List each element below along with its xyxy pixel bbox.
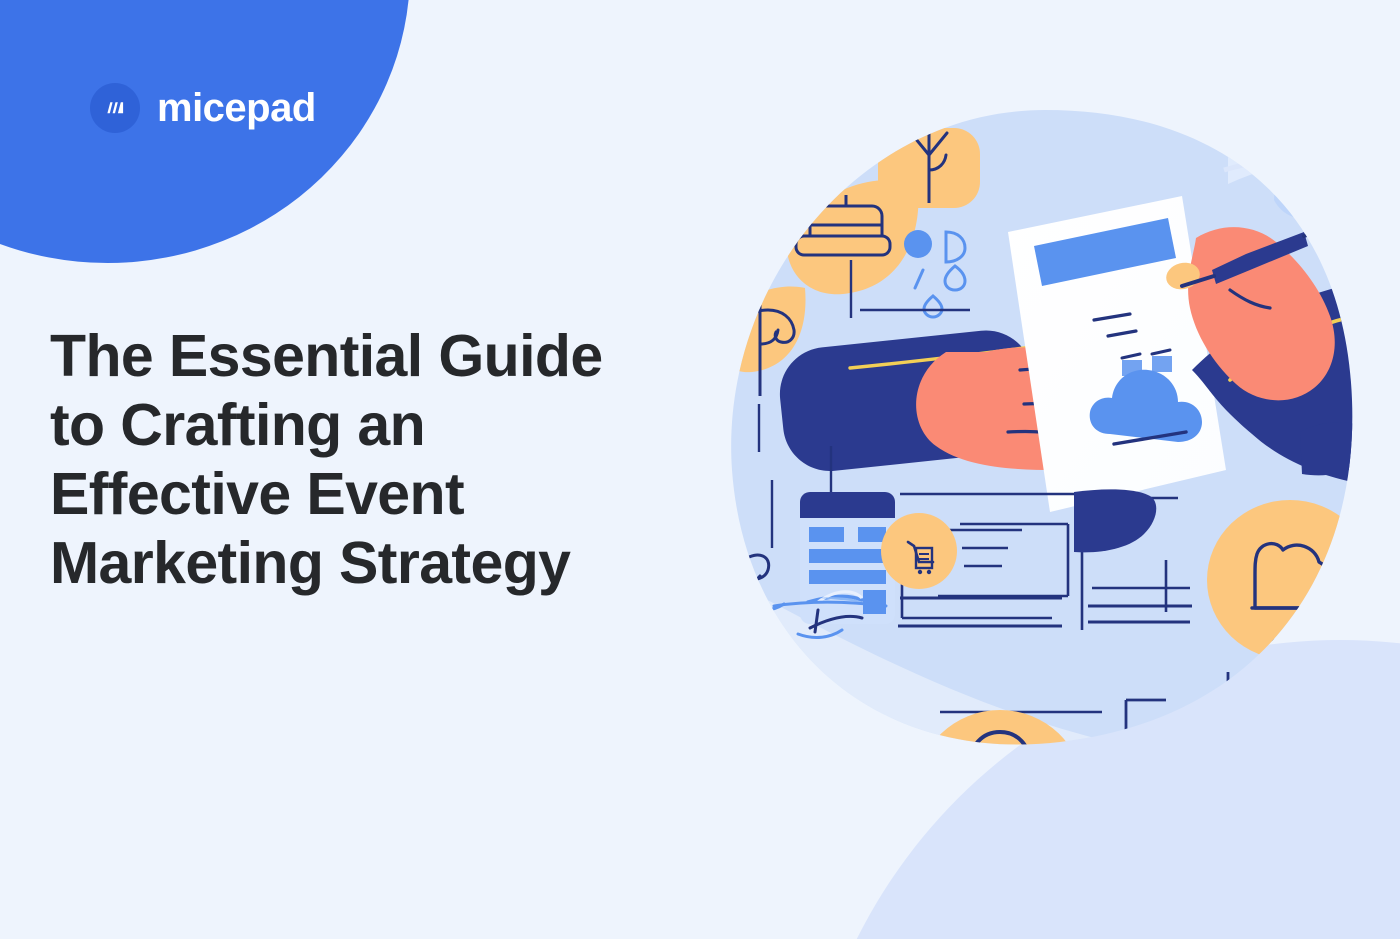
page-title: The Essential Guide to Crafting an Effec… — [50, 322, 690, 598]
brand-name: micepad — [157, 88, 316, 128]
poster-canvas: micepad The Essential Guide to Crafting … — [0, 0, 1400, 939]
dashboard-card — [800, 492, 895, 632]
brand-logo[interactable]: micepad — [90, 83, 316, 133]
cart-badge-icon — [881, 513, 957, 589]
cloud-badge-icon — [1207, 500, 1373, 660]
event-marketing-planning-illustration — [690, 0, 1400, 939]
micepad-m-logo-icon — [90, 83, 140, 133]
person-badge-icon — [917, 710, 1083, 870]
bottom-left-rules — [818, 756, 986, 866]
